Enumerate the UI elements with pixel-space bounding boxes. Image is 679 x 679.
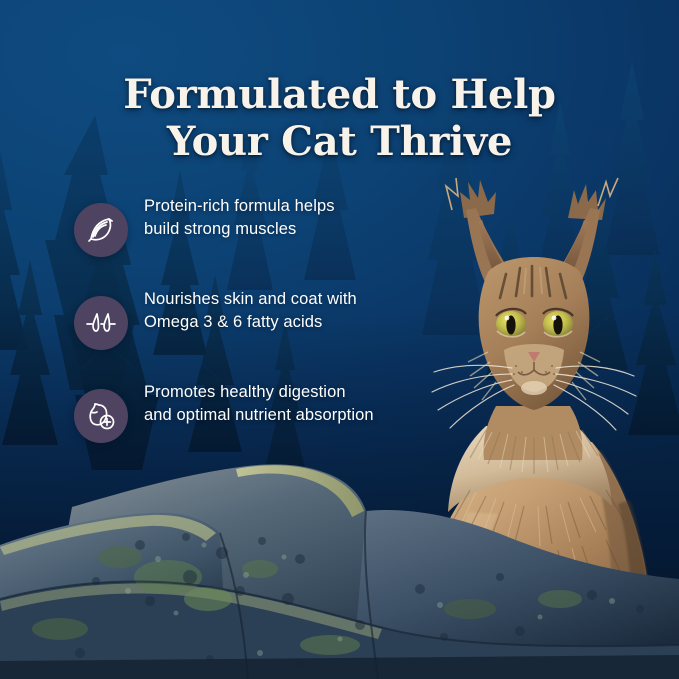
promo-banner: Formulated to Help Your Cat Thrive Prote… [0, 0, 679, 679]
benefit-item: Protein-rich formula helps build strong … [74, 192, 374, 257]
hair-follicle-icon [74, 296, 128, 350]
benefit-item: Nourishes skin and coat with Omega 3 & 6… [74, 285, 374, 350]
benefit-text: Promotes healthy digestion and optimal n… [144, 378, 374, 428]
muscle-fiber-icon [74, 203, 128, 257]
headline-line-1: Formulated to Help [123, 71, 555, 118]
headline-line-2: Your Cat Thrive [40, 118, 639, 165]
headline: Formulated to Help Your Cat Thrive [0, 71, 679, 165]
benefit-item: Promotes healthy digestion and optimal n… [74, 378, 374, 443]
rock-foreground [0, 449, 679, 679]
benefits-list: Protein-rich formula helps build strong … [74, 192, 374, 443]
benefit-text: Protein-rich formula helps build strong … [144, 192, 374, 242]
stomach-plus-icon [74, 389, 128, 443]
benefit-text: Nourishes skin and coat with Omega 3 & 6… [144, 285, 374, 335]
